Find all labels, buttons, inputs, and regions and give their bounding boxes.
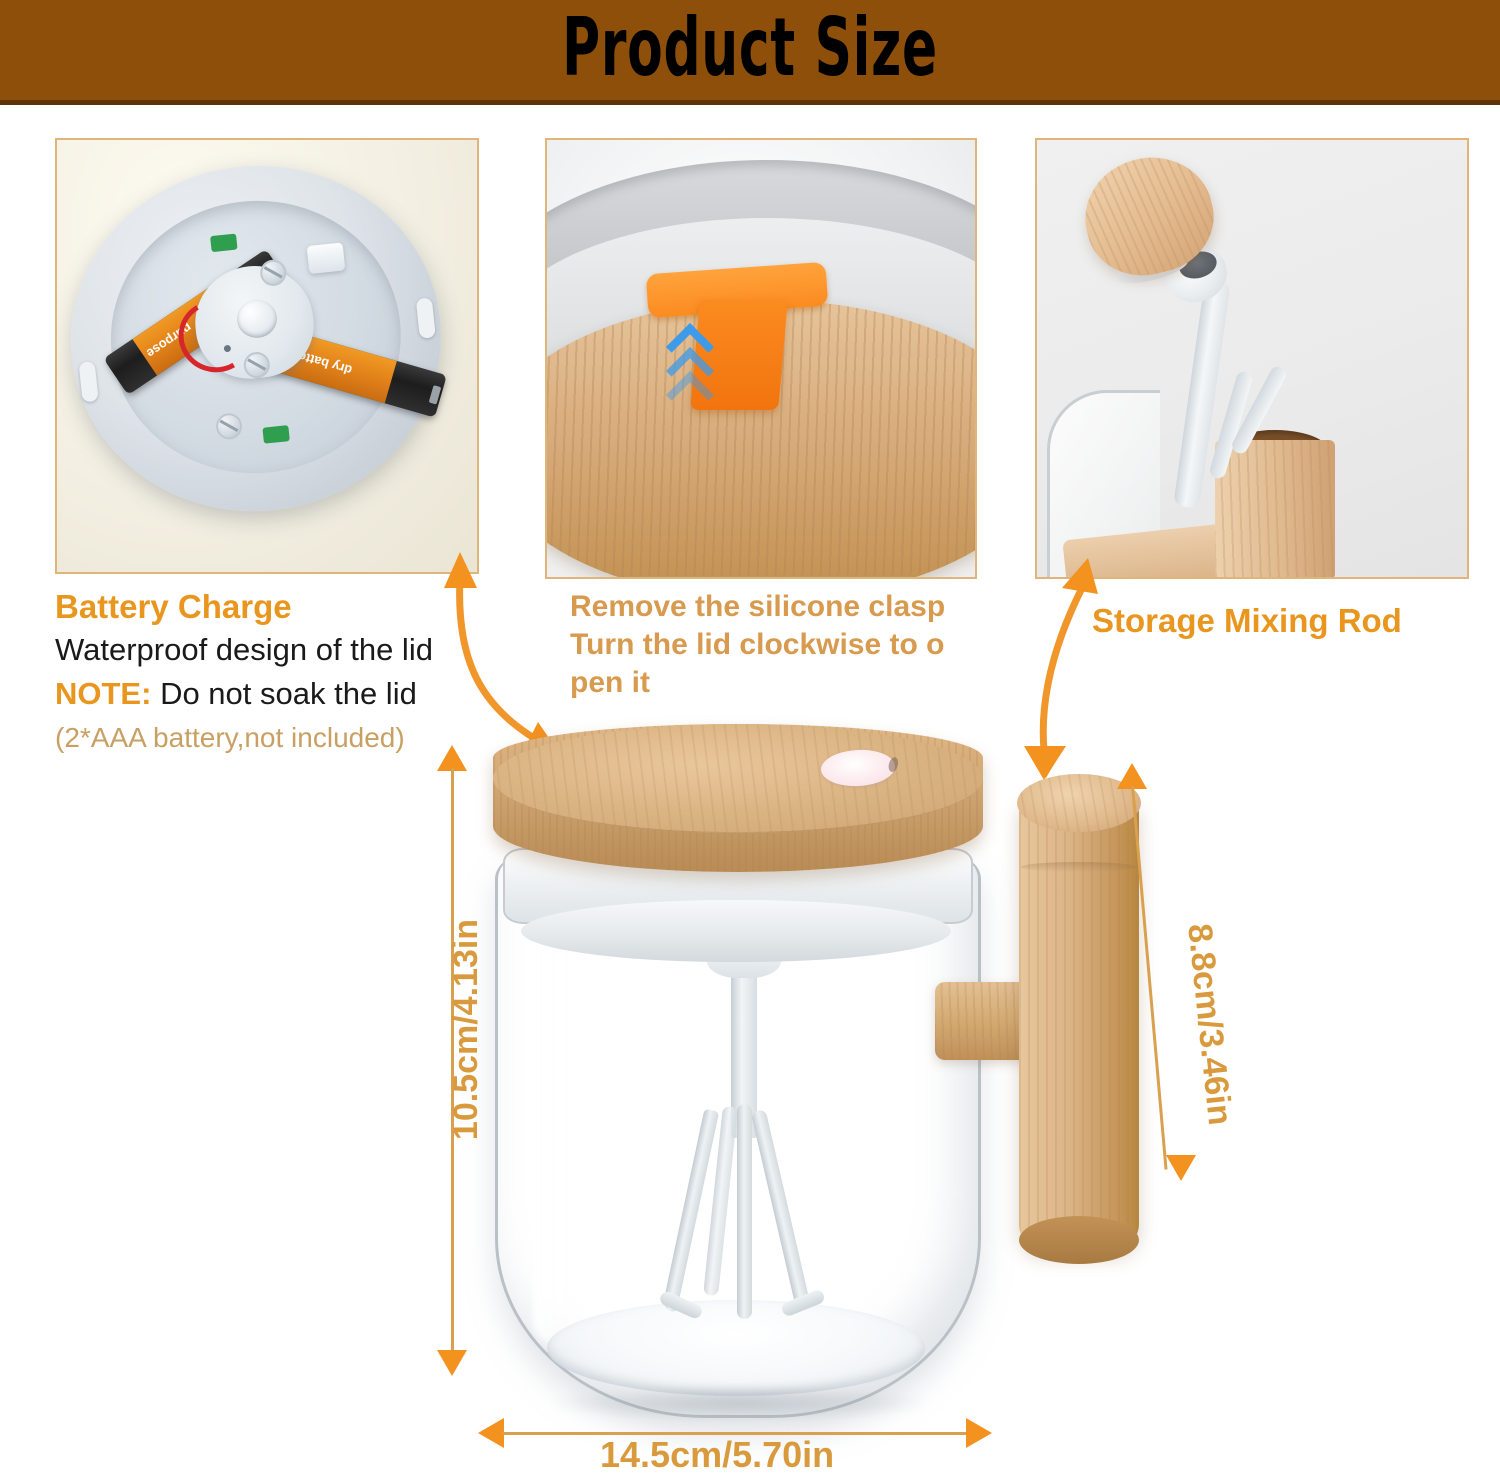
panel-battery-charge: purpose dry battery xyxy=(55,138,479,574)
storage-tube-body xyxy=(1215,440,1335,579)
caption-clasp-line3: pen it xyxy=(570,666,650,700)
handle-bottom xyxy=(1019,1216,1139,1264)
page-title: Product Size xyxy=(210,4,1290,92)
caption-clasp-line1: Remove the silicone clasp xyxy=(570,590,945,624)
lid-pointer-arrow xyxy=(1031,752,1061,778)
compartment-tab xyxy=(307,242,346,274)
lid-notch-left xyxy=(79,361,99,402)
caption-clasp-line2: Turn the lid clockwise to o xyxy=(570,628,945,662)
caption-battery-note: NOTE: Do not soak the lid xyxy=(55,676,417,712)
glass-base xyxy=(547,1300,925,1396)
caption-battery-line1: Waterproof design of the lid xyxy=(55,632,433,668)
handle-cap-seam xyxy=(1021,862,1137,872)
note-label: NOTE: xyxy=(55,676,151,711)
caption-battery-title: Battery Charge xyxy=(55,588,292,626)
panel-silicone-clasp xyxy=(545,138,977,579)
width-arrow-left xyxy=(478,1418,504,1448)
drop-shadow xyxy=(550,1386,930,1420)
note-text: Do not soak the lid xyxy=(160,676,417,711)
handle-dimension-label: 8.8cm/3.46in xyxy=(1179,922,1239,1127)
lid-seal-collar xyxy=(521,900,951,962)
panel-storage-mixing-rod xyxy=(1035,138,1469,579)
height-arrow-bottom xyxy=(437,1350,467,1376)
caption-storage-title: Storage Mixing Rod xyxy=(1092,602,1402,640)
width-arrow-right xyxy=(966,1418,992,1448)
width-dimension-label: 14.5cm/5.70in xyxy=(600,1434,834,1476)
pcb-contact-1 xyxy=(210,234,238,253)
lid-notch-right xyxy=(416,297,436,338)
handle-arrow-bottom xyxy=(1166,1155,1196,1181)
caption-battery-line3: (2*AAA battery,not included) xyxy=(55,722,405,754)
product-photo-mug xyxy=(455,700,1095,1430)
header-underline xyxy=(0,100,1500,105)
height-dimension-label: 10.5cm/4.13in xyxy=(447,919,486,1140)
glass-highlight xyxy=(533,915,585,1345)
wooden-lid-top xyxy=(493,724,983,833)
product-size-infographic: Product Size purpose dry battery xyxy=(0,0,1500,1481)
pcb-contact-2 xyxy=(262,425,290,444)
stirrer-leg-2 xyxy=(737,1104,752,1319)
